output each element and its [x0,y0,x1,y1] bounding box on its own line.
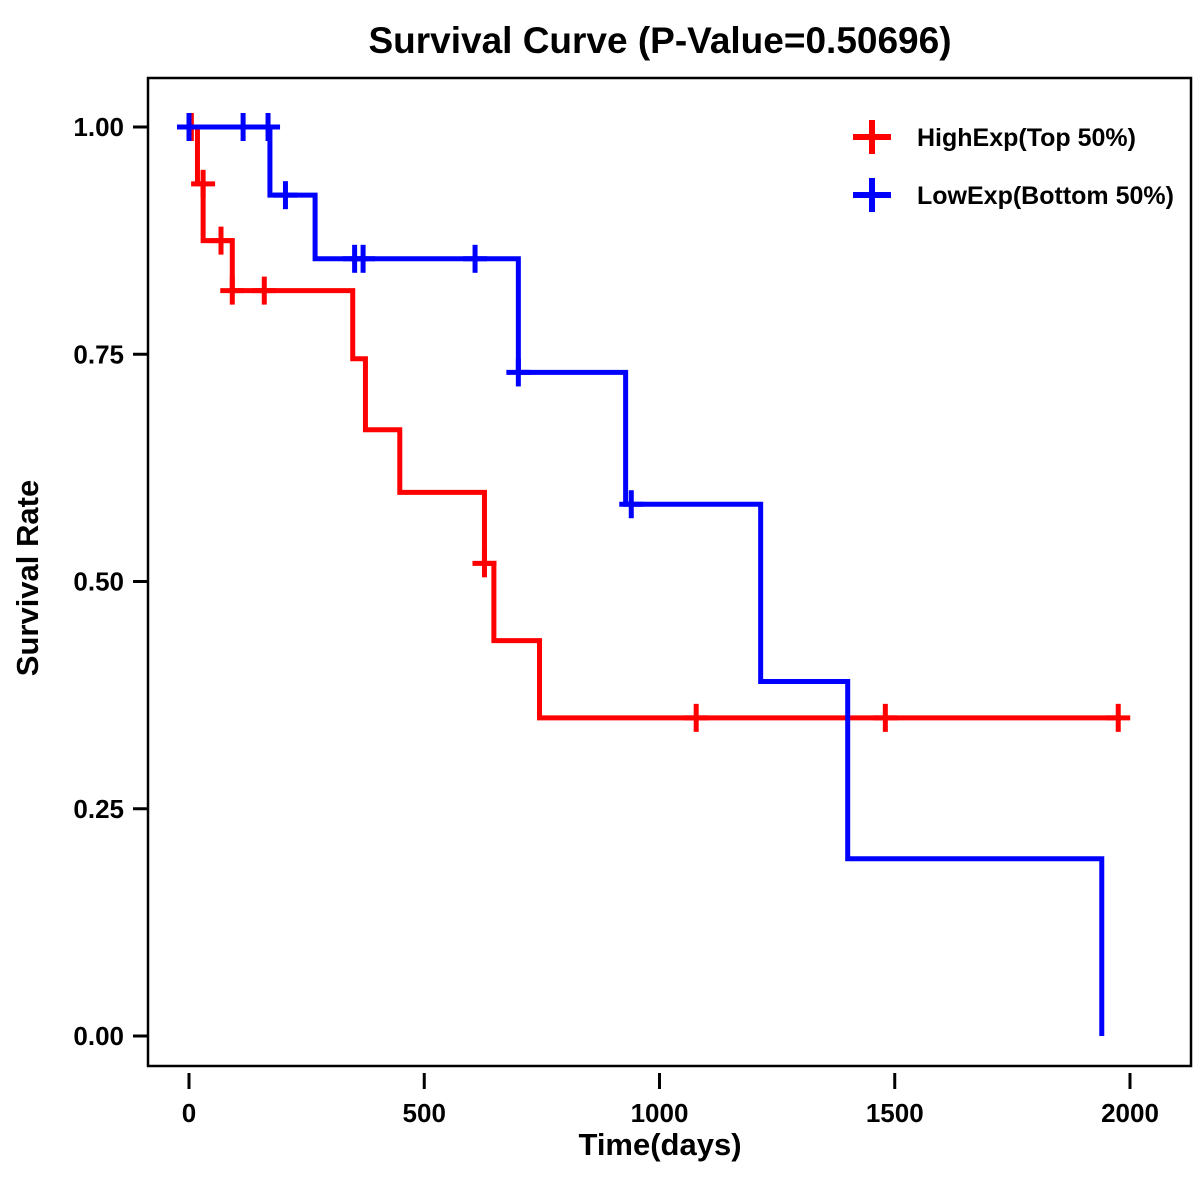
x-tick-label: 1500 [866,1098,924,1128]
y-tick-label: 0.50 [73,567,124,597]
x-tick-label: 0 [182,1098,196,1128]
x-tick-label: 500 [403,1098,446,1128]
x-axis-label: Time(days) [578,1127,741,1162]
km-plot-svg: Survival Curve (P-Value=0.50696) 0.000.2… [0,0,1200,1200]
legend-item-label: HighExp(Top 50%) [917,124,1136,152]
y-axis-label: Survival Rate [10,480,45,676]
x-tick-label: 1000 [631,1098,689,1128]
page-title: Survival Curve (P-Value=0.50696) [368,20,951,61]
y-tick-label: 0.25 [73,794,124,824]
y-tick-label: 0.00 [73,1021,124,1051]
legend-item-label: LowExp(Bottom 50%) [917,182,1174,210]
figure-background [0,0,1200,1200]
x-tick-label: 2000 [1101,1098,1159,1128]
y-tick-label: 1.00 [73,112,124,142]
y-tick-label: 0.75 [73,339,124,369]
survival-curve-figure: Survival Curve (P-Value=0.50696) 0.000.2… [0,0,1200,1200]
